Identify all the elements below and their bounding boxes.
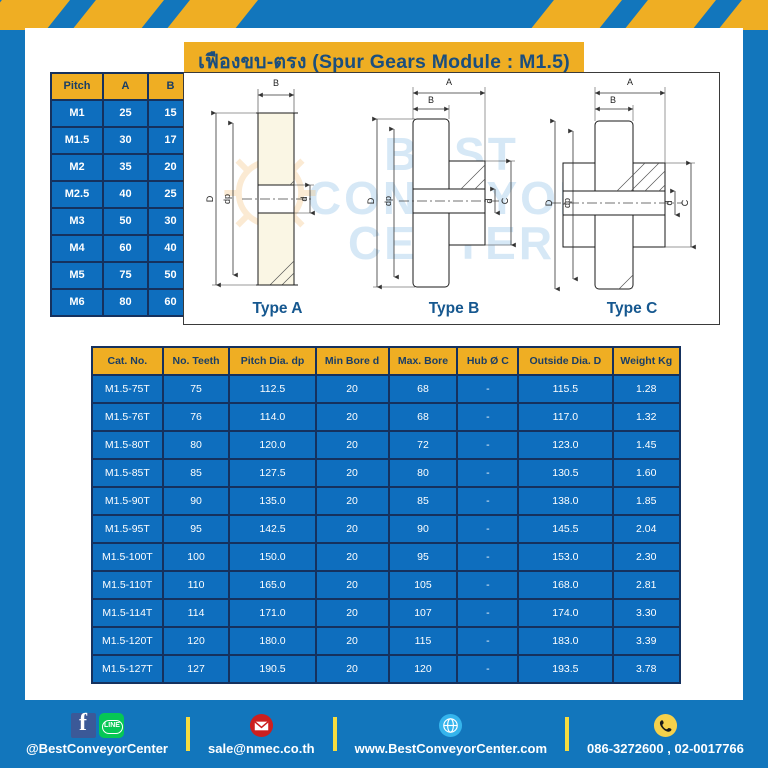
table-row: M1.5-76T76114.02068-117.01.32 [93,404,679,430]
pitch-table-row: M35030 [52,209,192,234]
pitch-cell: M3 [52,209,102,234]
spec-cell: 110 [164,572,229,598]
spec-cell: 1.32 [614,404,680,430]
pitch-cell: M2 [52,155,102,180]
footer-divider [565,717,569,751]
chevron-shape [530,0,622,30]
spec-header-cell: Weight Kg [614,348,680,374]
spec-cell: 193.5 [519,656,611,682]
pitch-cell: 60 [104,236,147,261]
spec-cell: 180.0 [230,628,314,654]
spec-cell: 3.78 [614,656,680,682]
pitch-cell: M1.5 [52,128,102,153]
chevron-shape [718,0,768,30]
pitch-table-row: M46040 [52,236,192,261]
svg-text:B: B [610,95,616,105]
svg-text:C: C [680,199,690,206]
spec-cell: 95 [390,544,457,570]
globe-icon[interactable] [438,713,463,738]
svg-text:D: D [544,199,554,206]
pitch-cell: 80 [104,290,147,315]
spec-header-cell: No. Teeth [164,348,229,374]
spec-cell: 117.0 [519,404,611,430]
spec-table-header-row: Cat. No.No. TeethPitch Dia. dpMin Bore d… [93,348,679,374]
pitch-cell: M5 [52,263,102,288]
email-address[interactable]: sale@nmec.co.th [208,741,315,756]
spec-cell: 120.0 [230,432,314,458]
svg-text:d: d [299,196,309,201]
spec-cell: 1.45 [614,432,680,458]
pitch-table-row: M57550 [52,263,192,288]
spec-cell: 90 [390,516,457,542]
spec-header-cell: Hub Ø C [458,348,517,374]
email-icon[interactable] [249,713,274,738]
table-row: M1.5-110T110165.020105-168.02.81 [93,572,679,598]
spec-cell: M1.5-110T [93,572,162,598]
spec-header-cell: Max. Bore [390,348,457,374]
pitch-table-row: M68060 [52,290,192,315]
contact-footer: @BestConveyorCenter sale@nmec.co.th [0,700,768,768]
spec-cell: 130.5 [519,460,611,486]
spec-cell: M1.5-90T [93,488,162,514]
pitch-cell: M6 [52,290,102,315]
table-row: M1.5-95T95142.52090-145.52.04 [93,516,679,542]
spec-cell: 72 [390,432,457,458]
spec-cell: 1.85 [614,488,680,514]
pitch-cell: M4 [52,236,102,261]
spec-cell: 68 [390,376,457,402]
pitch-header-a: A [104,74,147,99]
spec-cell: 68 [390,404,457,430]
spec-cell: 168.0 [519,572,611,598]
pitch-table-header-row: Pitch A B [52,74,192,99]
spec-cell: 20 [317,544,388,570]
svg-text:A: A [446,77,452,87]
svg-text:dp: dp [222,194,232,204]
spec-cell: - [458,432,517,458]
spec-cell: 75 [164,376,229,402]
facebook-icon[interactable] [71,713,96,738]
table-row: M1.5-80T80120.02072-123.01.45 [93,432,679,458]
spec-cell: 1.28 [614,376,680,402]
spec-cell: M1.5-76T [93,404,162,430]
spec-table-wrapper: Cat. No.No. TeethPitch Dia. dpMin Bore d… [91,346,681,684]
pitch-table-row: M1.53017 [52,128,192,153]
spec-header-cell: Outside Dia. D [519,348,611,374]
spec-cell: - [458,516,517,542]
chevron-shape [624,0,716,30]
spec-cell: 112.5 [230,376,314,402]
footer-phone[interactable]: 086-3272600 , 02-0017766 [587,713,744,756]
spec-cell: M1.5-100T [93,544,162,570]
spec-cell: 114 [164,600,229,626]
footer-social[interactable]: @BestConveyorCenter [26,713,168,756]
spec-cell: - [458,572,517,598]
pitch-cell: M1 [52,101,102,126]
spec-cell: 150.0 [230,544,314,570]
spec-cell: 174.0 [519,600,611,626]
spec-cell: 165.0 [230,572,314,598]
footer-email[interactable]: sale@nmec.co.th [208,713,315,756]
spec-cell: 107 [390,600,457,626]
spec-cell: 2.30 [614,544,680,570]
pitch-table-row: M2.54025 [52,182,192,207]
spec-cell: - [458,656,517,682]
pitch-cell: M2.5 [52,182,102,207]
spec-cell: - [458,544,517,570]
pitch-table-row: M12515 [52,101,192,126]
spec-cell: 85 [390,488,457,514]
spec-cell: 20 [317,404,388,430]
spec-cell: M1.5-75T [93,376,162,402]
spec-cell: 20 [317,600,388,626]
chevron-shape [0,0,70,30]
spec-cell: 171.0 [230,600,314,626]
diagram-label-type-c: Type C [543,300,720,318]
svg-text:B: B [428,95,434,105]
pitch-cell: 35 [104,155,147,180]
spec-cell: 3.39 [614,628,680,654]
spec-cell: - [458,628,517,654]
spec-cell: - [458,600,517,626]
spec-cell: 114.0 [230,404,314,430]
svg-text:C: C [500,197,510,204]
spec-header-cell: Cat. No. [93,348,162,374]
spec-cell: 20 [317,656,388,682]
table-row: M1.5-75T75112.52068-115.51.28 [93,376,679,402]
pitch-cell: 30 [104,128,147,153]
spec-cell: 85 [164,460,229,486]
spec-cell: 20 [317,432,388,458]
spec-cell: 20 [317,516,388,542]
spec-cell: 135.0 [230,488,314,514]
table-row: M1.5-90T90135.02085-138.01.85 [93,488,679,514]
svg-text:dp: dp [562,198,572,208]
spec-cell: M1.5-85T [93,460,162,486]
spec-cell: 123.0 [519,432,611,458]
svg-text:dp: dp [383,196,393,206]
spec-cell: 153.0 [519,544,611,570]
svg-text:d: d [664,200,674,205]
spec-cell: 183.0 [519,628,611,654]
diagram-type-b: A B D dp C d Type B [365,73,543,325]
spec-cell: 2.04 [614,516,680,542]
diagram-type-a: B D dp d Type A [190,73,365,325]
spec-cell: 1.60 [614,460,680,486]
spec-cell: 145.5 [519,516,611,542]
spec-cell: 142.5 [230,516,314,542]
spec-cell: 120 [164,628,229,654]
spec-cell: 95 [164,516,229,542]
spec-cell: 127 [164,656,229,682]
pitch-cell: 50 [104,209,147,234]
chevron-shape [72,0,164,30]
spec-cell: 90 [164,488,229,514]
spec-cell: 20 [317,628,388,654]
spec-cell: 20 [317,376,388,402]
footer-divider [186,717,190,751]
spec-cell: 20 [317,488,388,514]
table-row: M1.5-120T120180.020115-183.03.39 [93,628,679,654]
spec-cell: 3.30 [614,600,680,626]
spec-cell: 115 [390,628,457,654]
spec-cell: 115.5 [519,376,611,402]
line-icon[interactable] [99,713,124,738]
pitch-cell: 40 [104,182,147,207]
spec-cell: 190.5 [230,656,314,682]
spec-cell: 2.81 [614,572,680,598]
spec-cell: 138.0 [519,488,611,514]
pitch-cell: 25 [104,101,147,126]
spec-table-body: M1.5-75T75112.52068-115.51.28M1.5-76T761… [93,376,679,682]
spec-cell: M1.5-80T [93,432,162,458]
pitch-header-pitch: Pitch [52,74,102,99]
table-row: M1.5-114T114171.020107-174.03.30 [93,600,679,626]
svg-text:D: D [366,197,376,204]
table-row: M1.5-85T85127.52080-130.51.60 [93,460,679,486]
phone-icon[interactable] [653,713,678,738]
spec-cell: 120 [390,656,457,682]
pitch-table-row: M23520 [52,155,192,180]
diagram-label-type-a: Type A [190,300,365,318]
spec-cell: 20 [317,460,388,486]
spec-cell: 100 [164,544,229,570]
spec-cell: 20 [317,572,388,598]
content-card: เฟืองขบ-ตรง (Spur Gears Module : M1.5) P… [25,28,743,700]
svg-text:D: D [205,195,215,202]
spec-header-cell: Min Bore d [317,348,388,374]
chevron-shape [166,0,258,30]
spec-cell: - [458,488,517,514]
spec-cell: M1.5-120T [93,628,162,654]
table-row: M1.5-127T127190.520120-193.53.78 [93,656,679,682]
svg-text:A: A [627,77,633,87]
spec-cell: M1.5-95T [93,516,162,542]
pitch-table-body: M12515M1.53017M23520M2.54025M35030M46040… [52,101,192,315]
footer-website[interactable]: www.BestConveyorCenter.com [355,713,547,756]
spec-sheet-page: เฟืองขบ-ตรง (Spur Gears Module : M1.5) P… [0,0,768,768]
spec-cell: 80 [164,432,229,458]
svg-text:B: B [273,78,279,88]
footer-divider [333,717,337,751]
pitch-cell: 75 [104,263,147,288]
svg-text:d: d [484,198,494,203]
diagram-type-c: A B D dp C d Type C [543,73,720,325]
facebook-handle[interactable]: @BestConveyorCenter [26,741,168,756]
spec-cell: 80 [390,460,457,486]
spec-cell: - [458,460,517,486]
spec-cell: 76 [164,404,229,430]
spec-cell: M1.5-127T [93,656,162,682]
table-row: M1.5-100T100150.02095-153.02.30 [93,544,679,570]
pitch-table: Pitch A B M12515M1.53017M23520M2.54025M3… [50,72,194,317]
diagram-label-type-b: Type B [365,300,543,318]
gear-diagram-panel: BEST CONVEYOR CENTER [183,72,720,325]
spec-header-cell: Pitch Dia. dp [230,348,314,374]
website-url[interactable]: www.BestConveyorCenter.com [355,741,547,756]
spec-cell: M1.5-114T [93,600,162,626]
spec-table: Cat. No.No. TeethPitch Dia. dpMin Bore d… [91,346,681,684]
spec-cell: - [458,376,517,402]
phone-number[interactable]: 086-3272600 , 02-0017766 [587,741,744,756]
spec-cell: 105 [390,572,457,598]
spec-cell: 127.5 [230,460,314,486]
spec-cell: - [458,404,517,430]
